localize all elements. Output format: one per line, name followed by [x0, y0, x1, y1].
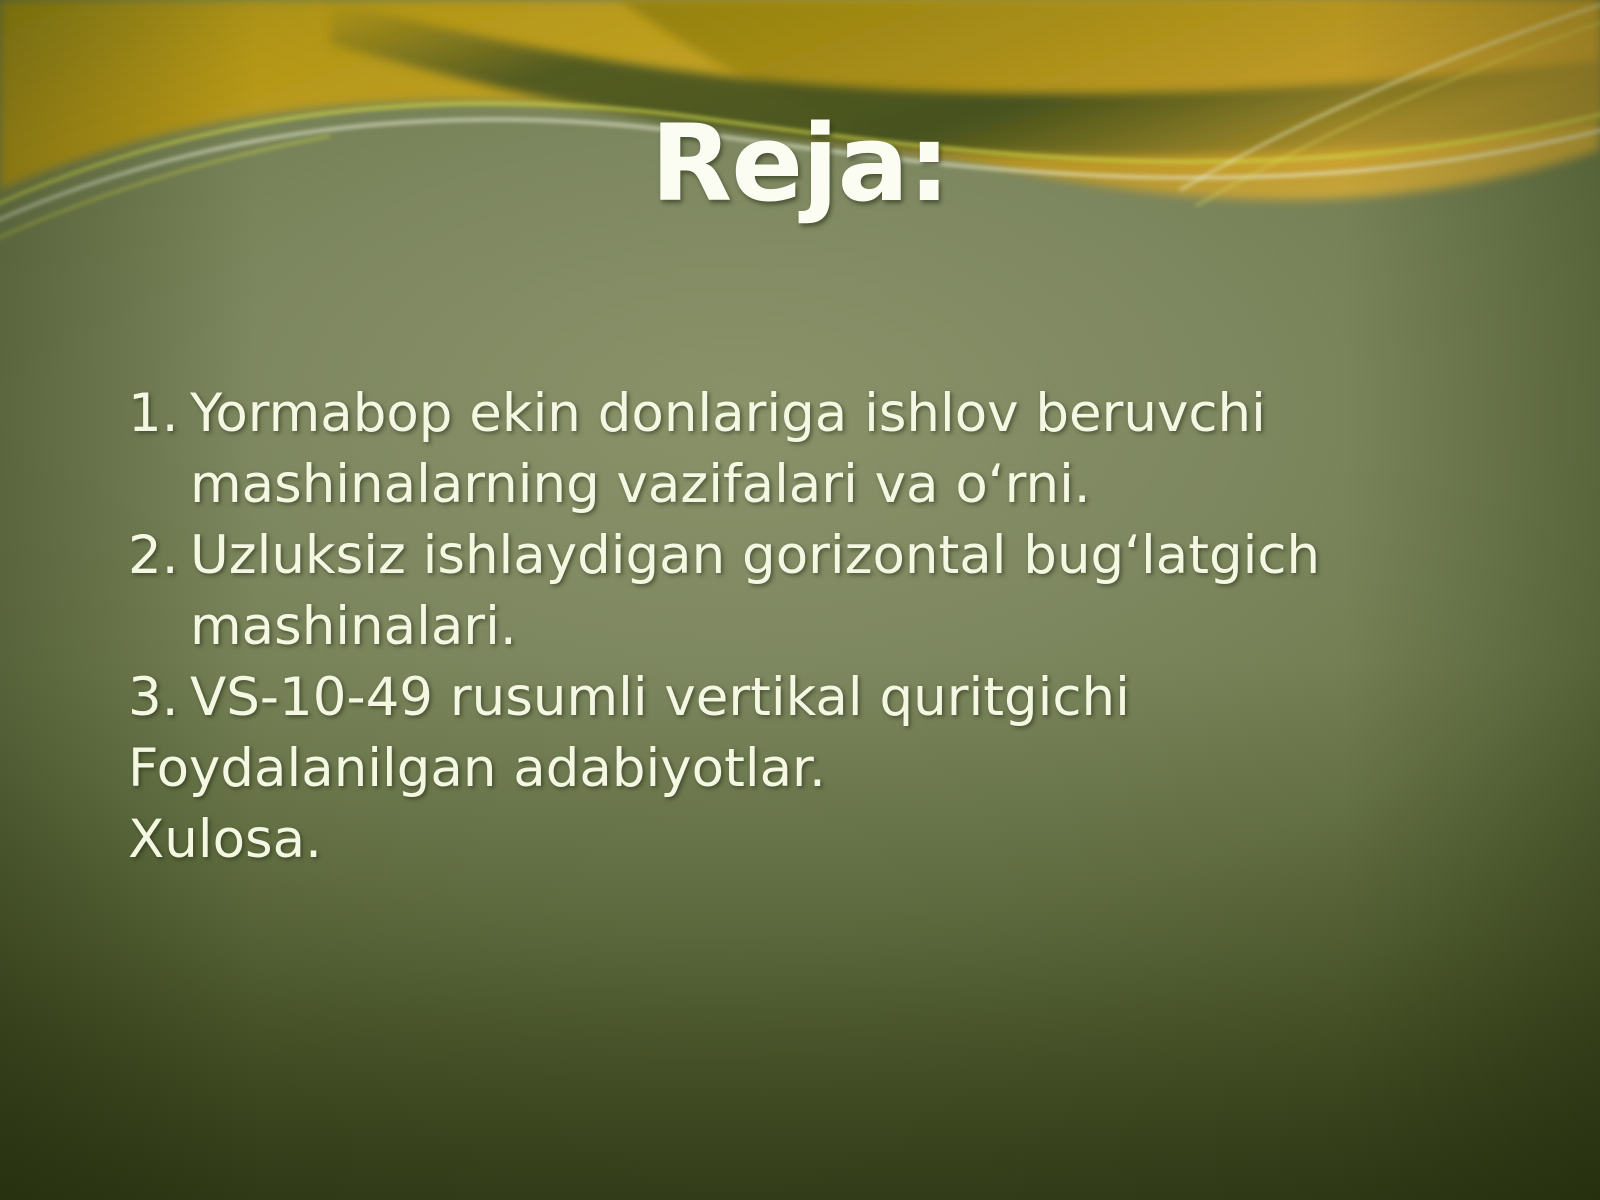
- slide-body: 1. Yormabop ekin donlariga ishlov beruvc…: [128, 378, 1418, 875]
- list-item-plain: Foydalanilgan adabiyotlar.: [128, 733, 1418, 804]
- slide-title: Reja:: [0, 108, 1600, 219]
- presentation-slide: Reja: 1. Yormabop ekin donlariga ishlov …: [0, 0, 1600, 1200]
- list-item-text: Yormabop ekin donlariga ishlov beruvchi …: [190, 378, 1418, 520]
- list-item: 2. Uzluksiz ishlaydigan gorizontal bug‘l…: [128, 520, 1418, 662]
- list-item-text: Uzluksiz ishlaydigan gorizontal bug‘latg…: [190, 520, 1418, 662]
- list-item-plain: Xulosa.: [128, 804, 1418, 875]
- list-item-number: 3.: [128, 662, 190, 733]
- list-item-number: 1.: [128, 378, 190, 449]
- list-item-text: VS-10-49 rusumli vertikal quritgichi: [190, 662, 1418, 733]
- list-item: 1. Yormabop ekin donlariga ishlov beruvc…: [128, 378, 1418, 520]
- list-item: 3. VS-10-49 rusumli vertikal quritgichi: [128, 662, 1418, 733]
- list-item-number: 2.: [128, 520, 190, 591]
